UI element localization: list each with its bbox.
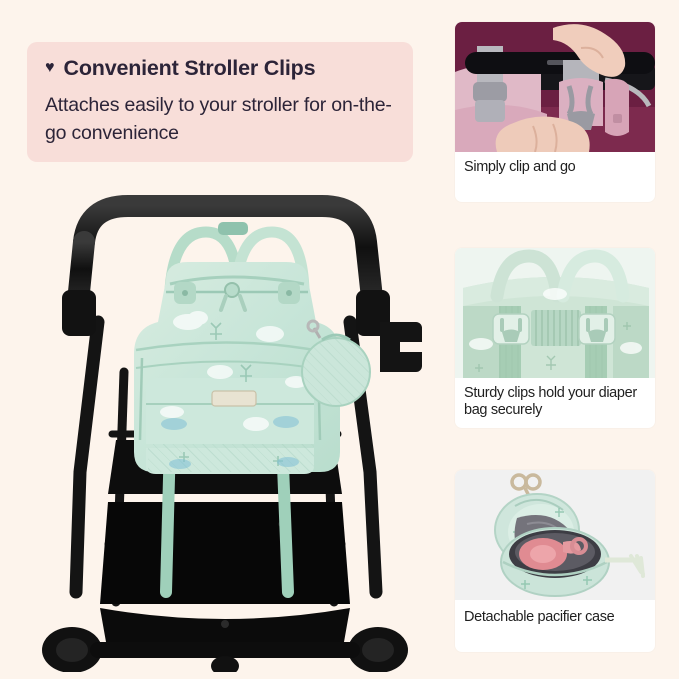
sturdy-clips-illustration	[455, 248, 655, 378]
feature-subtitle: Attaches easily to your stroller for on-…	[45, 92, 393, 147]
pacifier-case-illustration	[455, 470, 655, 600]
feature-card-clip-and-go: Simply clip and go	[455, 22, 655, 202]
feature-card-pacifier-case: Detachable pacifier case	[455, 470, 655, 652]
card-caption-pacifier-case: Detachable pacifier case	[455, 600, 655, 626]
feature-title: Convenient Stroller Clips	[64, 56, 316, 81]
clip-and-go-illustration	[455, 22, 655, 152]
card-photo-pacifier-case	[455, 470, 655, 600]
heart-icon: ♥	[45, 60, 55, 76]
card-caption-sturdy-clips: Sturdy clips hold your diaper bag secure…	[455, 378, 655, 419]
card-photo-sturdy-clips	[455, 248, 655, 378]
hero-illustration	[20, 172, 440, 672]
card-photo-clip-and-go	[455, 22, 655, 152]
feature-banner-heading: ♥ Convenient Stroller Clips	[45, 56, 393, 81]
infographic-page: ♥ Convenient Stroller Clips Attaches eas…	[0, 0, 679, 679]
card-caption-clip-and-go: Simply clip and go	[455, 152, 655, 176]
feature-banner: ♥ Convenient Stroller Clips Attaches eas…	[27, 42, 413, 162]
feature-card-sturdy-clips: Sturdy clips hold your diaper bag secure…	[455, 248, 655, 428]
hero-product-photo	[20, 172, 440, 672]
